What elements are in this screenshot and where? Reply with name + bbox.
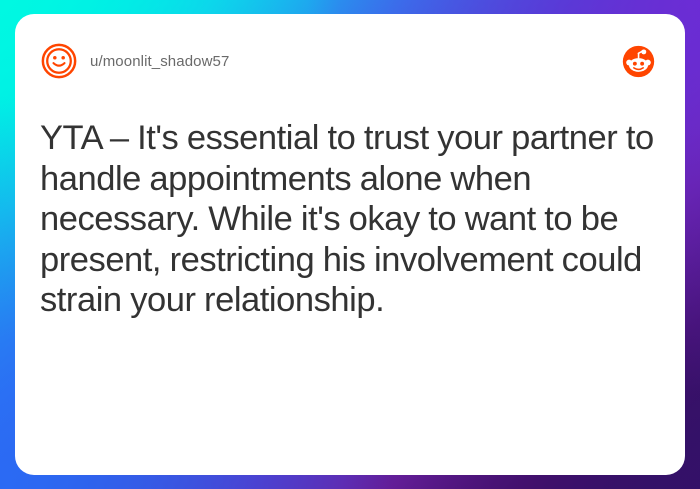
comment-text: YTA – It's essential to trust your partn…	[40, 118, 657, 321]
gradient-background: u/moonlit_shadow57	[0, 0, 700, 489]
reddit-comment-card: u/moonlit_shadow57	[15, 14, 685, 475]
smiley-face-icon[interactable]	[40, 42, 78, 80]
card-header: u/moonlit_shadow57	[40, 40, 657, 82]
username-label[interactable]: u/moonlit_shadow57	[90, 53, 229, 70]
reddit-snoo-icon[interactable]	[622, 45, 655, 78]
card-body: YTA – It's essential to trust your partn…	[40, 82, 657, 455]
